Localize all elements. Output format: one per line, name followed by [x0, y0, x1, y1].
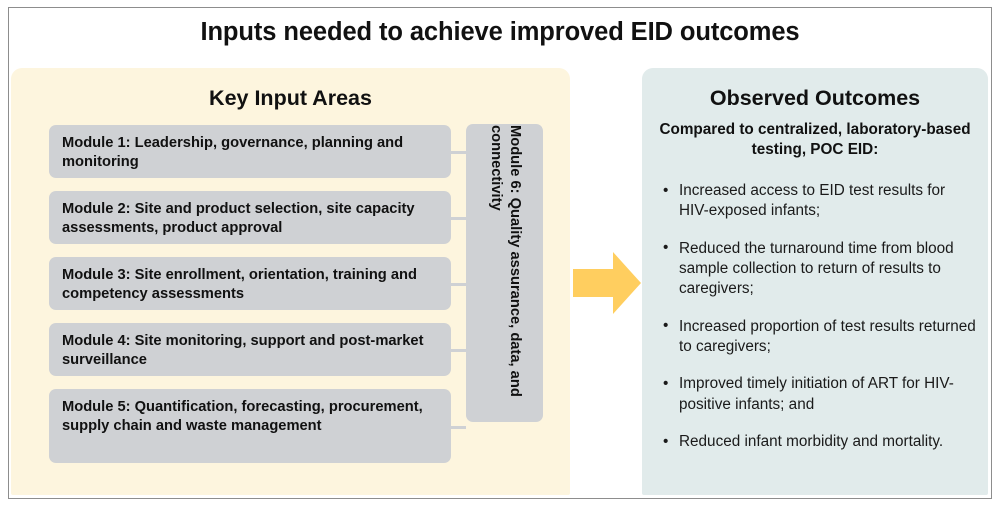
bullet-icon: •: [663, 238, 668, 258]
module-box-3[interactable]: Module 3: Site enrollment, orientation, …: [49, 257, 451, 310]
list-item-text: Increased proportion of test results ret…: [679, 318, 976, 355]
list-item: • Reduced the turnaround time from blood…: [658, 239, 976, 300]
connector-line-module-5: [441, 426, 466, 429]
connector-line-module-4: [441, 349, 466, 352]
observed-outcomes-list: • Increased access to EID test results f…: [658, 181, 976, 469]
observed-outcomes-subheading: Compared to centralized, laboratory-base…: [654, 120, 976, 161]
bullet-icon: •: [663, 432, 668, 452]
page-title: Inputs needed to achieve improved EID ou…: [10, 18, 990, 47]
list-item: • Increased access to EID test results f…: [658, 181, 976, 222]
observed-outcomes-heading: Observed Outcomes: [642, 86, 988, 111]
figure-canvas: Inputs needed to achieve improved EID ou…: [0, 0, 1000, 507]
bullet-icon: •: [663, 181, 668, 201]
connector-line-module-1: [441, 151, 466, 154]
connector-line-module-2: [441, 217, 466, 220]
bullet-icon: •: [663, 316, 668, 336]
list-item-text: Reduced the turnaround time from blood s…: [679, 240, 954, 298]
bullet-icon: •: [663, 374, 668, 394]
observed-outcomes-panel: Observed Outcomes Compared to centralize…: [642, 68, 988, 495]
module-box-6-label: Module 6: Quality assurance, data, and c…: [486, 125, 524, 421]
module-box-4-label: Module 4: Site monitoring, support and p…: [62, 333, 424, 368]
module-box-2[interactable]: Module 2: Site and product selection, si…: [49, 191, 451, 244]
module-box-4[interactable]: Module 4: Site monitoring, support and p…: [49, 323, 451, 376]
arrow-right-icon: [573, 252, 641, 314]
key-input-areas-heading: Key Input Areas: [11, 86, 570, 111]
module-box-5[interactable]: Module 5: Quantification, forecasting, p…: [49, 389, 451, 463]
module-box-5-label: Module 5: Quantification, forecasting, p…: [62, 399, 423, 434]
list-item: • Reduced infant morbidity and mortality…: [658, 432, 976, 452]
module-box-6-vertical[interactable]: Module 6: Quality assurance, data, and c…: [466, 124, 543, 422]
module-box-3-label: Module 3: Site enrollment, orientation, …: [62, 267, 417, 302]
list-item-text: Increased access to EID test results for…: [679, 182, 945, 219]
list-item: • Improved timely initiation of ART for …: [658, 374, 976, 415]
module-box-1-label: Module 1: Leadership, governance, planni…: [62, 135, 403, 170]
list-item: • Increased proportion of test results r…: [658, 317, 976, 358]
list-item-text: Improved timely initiation of ART for HI…: [679, 375, 954, 412]
list-item-text: Reduced infant morbidity and mortality.: [679, 433, 943, 450]
module-box-2-label: Module 2: Site and product selection, si…: [62, 201, 415, 236]
connector-line-module-3: [441, 283, 466, 286]
module-box-1[interactable]: Module 1: Leadership, governance, planni…: [49, 125, 451, 178]
